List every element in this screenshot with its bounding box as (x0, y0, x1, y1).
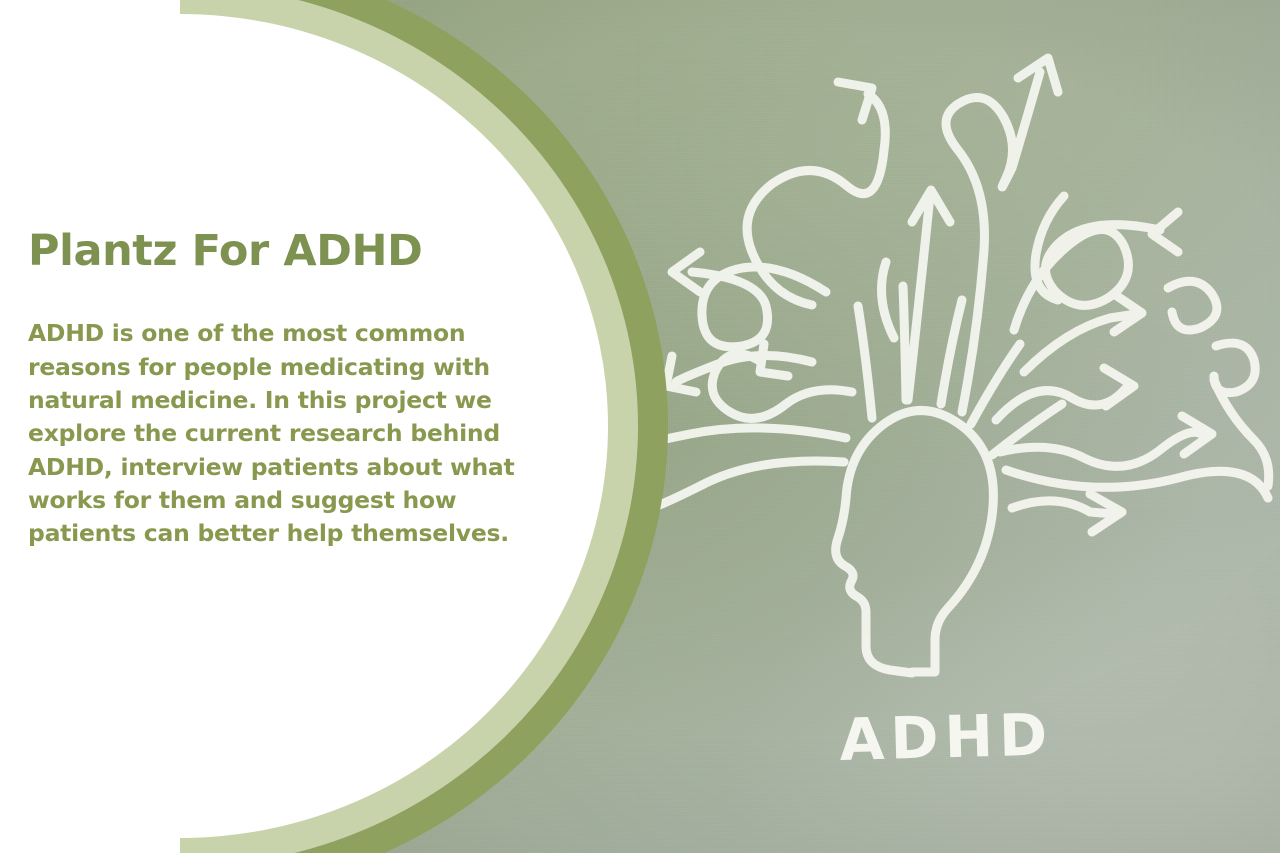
head-profile-icon (836, 410, 994, 673)
presentation-slide: ADHD Plantz For ADHD ADHD is one of the … (0, 0, 1280, 853)
slide-text-column: Plantz For ADHD ADHD is one of the most … (28, 228, 568, 551)
svg-text:ADHD: ADHD (839, 700, 1054, 774)
page-title: Plantz For ADHD (28, 228, 568, 275)
slide-description: ADHD is one of the most common reasons f… (28, 275, 553, 551)
chalk-caption-adhd: ADHD (839, 700, 1054, 774)
